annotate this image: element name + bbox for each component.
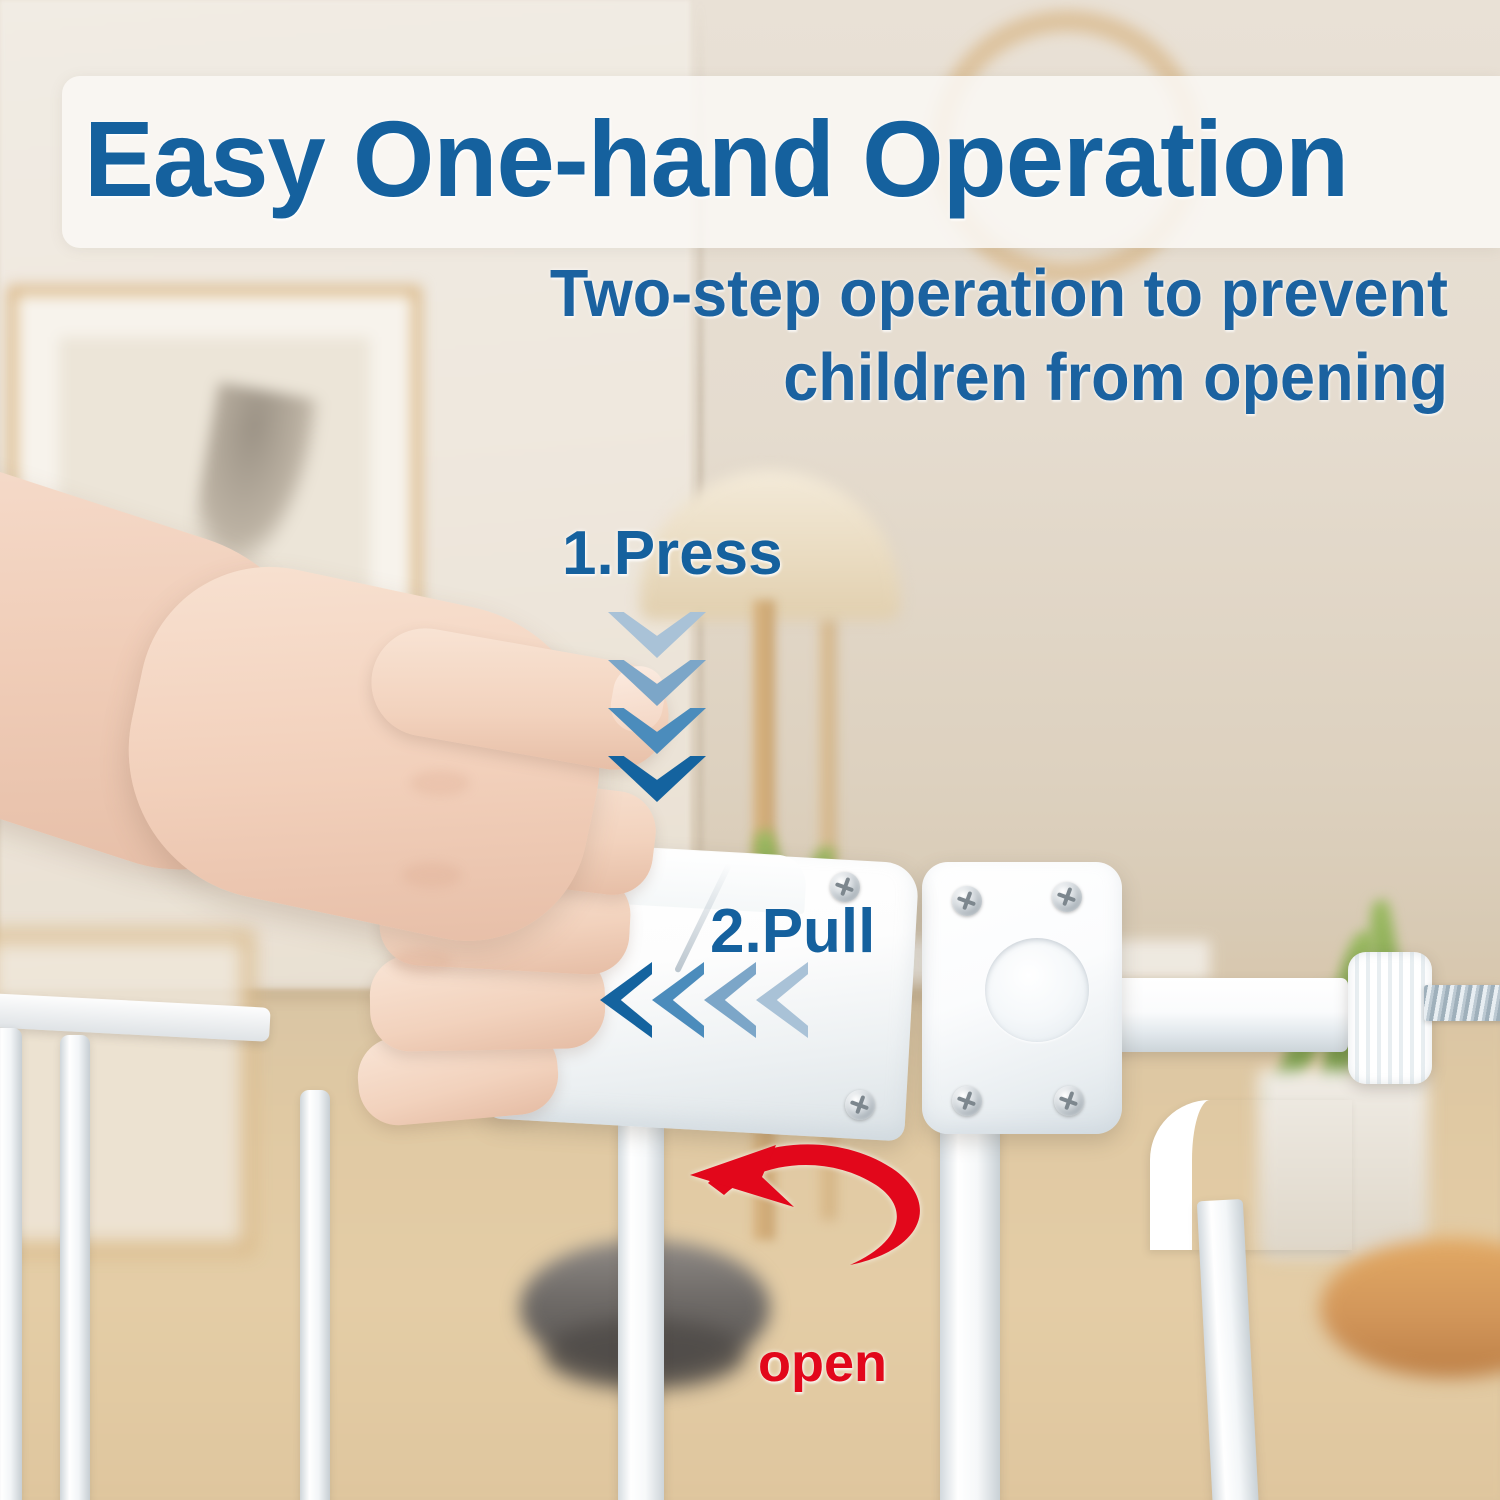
threaded-bolt xyxy=(1424,985,1500,1021)
phillips-screw-icon xyxy=(1054,1086,1084,1116)
product-feature-image: Easy One-hand Operation Two-step operati… xyxy=(0,0,1500,1500)
curved-left-arrow-icon xyxy=(690,1125,950,1285)
chevron-left-icon xyxy=(704,962,756,1038)
knuckle-crease xyxy=(410,770,470,796)
phillips-screw-icon xyxy=(952,886,982,916)
step-1-label: 1.Press xyxy=(562,518,783,589)
subheadline-line-1: Two-step operation to prevent xyxy=(508,252,1448,336)
gate-curved-frame xyxy=(1150,1100,1352,1250)
chevron-left-icon xyxy=(756,962,808,1038)
subheadline-line-2: children from opening xyxy=(508,336,1448,420)
chevron-left-icon xyxy=(652,962,704,1038)
step-2-label: 2.Pull xyxy=(710,896,875,967)
latch-center-boss xyxy=(985,938,1089,1042)
chevron-left-icon-group xyxy=(600,962,820,1038)
knuckle-crease xyxy=(402,862,462,888)
open-callout-label: open xyxy=(758,1332,887,1394)
chevron-down-icon xyxy=(608,708,706,754)
chevron-down-icon-group xyxy=(608,612,728,822)
chevron-down-icon xyxy=(608,756,706,802)
phillips-screw-icon xyxy=(1052,882,1082,912)
chevron-down-icon xyxy=(608,612,706,658)
chevron-down-icon xyxy=(608,660,706,706)
chevron-left-icon xyxy=(600,962,652,1038)
gate-horizontal-bar xyxy=(1098,978,1348,1052)
phillips-screw-icon xyxy=(845,1090,875,1120)
subheadline: Two-step operation to prevent children f… xyxy=(508,252,1448,421)
phillips-screw-icon xyxy=(952,1086,982,1116)
pressure-mount-knob[interactable] xyxy=(1348,952,1432,1084)
page-title: Easy One-hand Operation xyxy=(84,88,1448,231)
knuckle-crease xyxy=(392,948,452,974)
